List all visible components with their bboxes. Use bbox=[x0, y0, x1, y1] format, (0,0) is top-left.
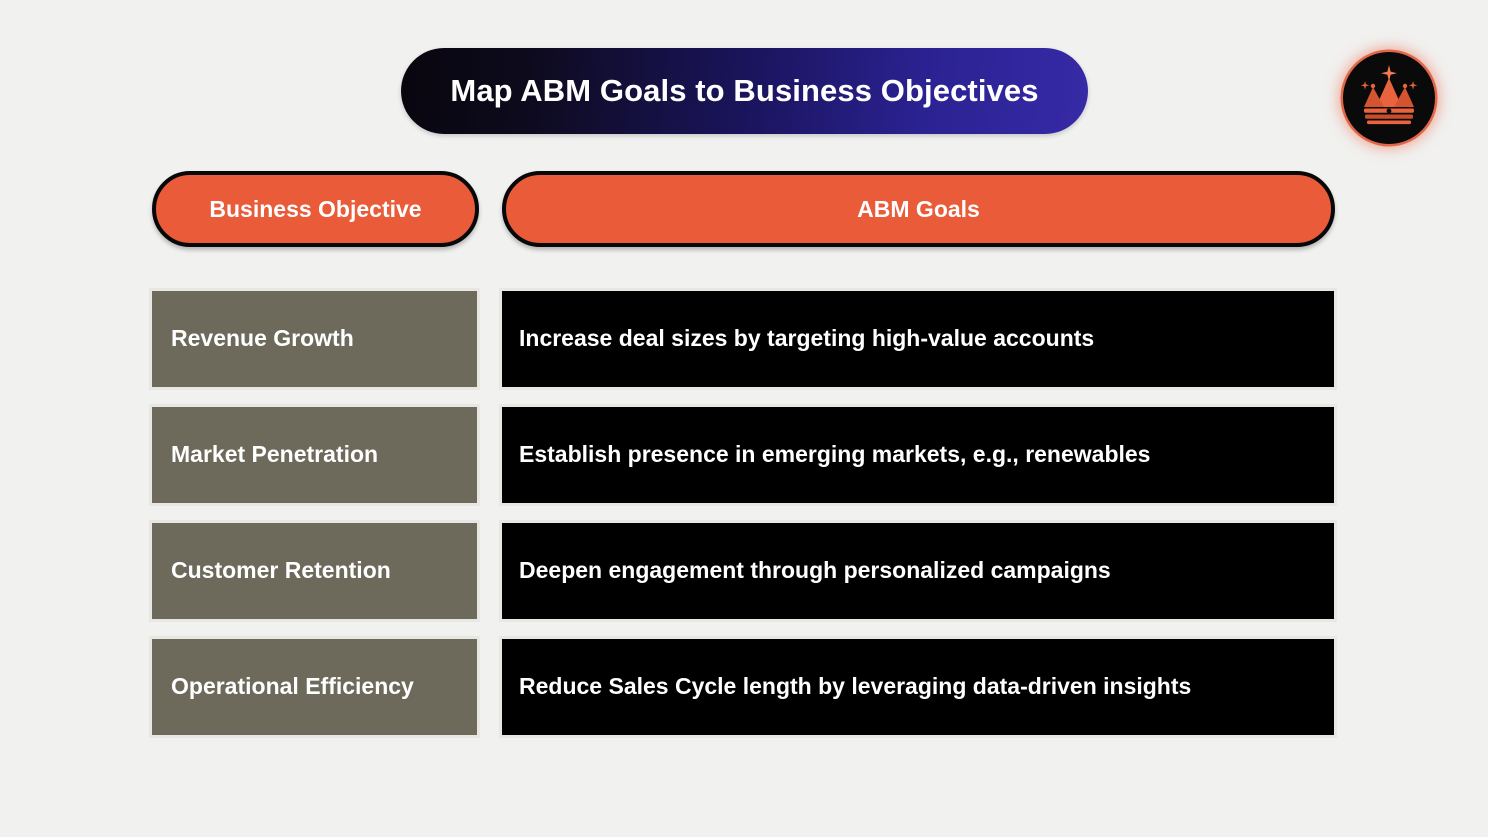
slide-canvas: Map ABM Goals to Business Objectives bbox=[0, 0, 1488, 837]
slide-title-banner: Map ABM Goals to Business Objectives bbox=[401, 48, 1088, 134]
row-spacer bbox=[480, 288, 499, 390]
mapping-matrix: Revenue Growth Increase deal sizes by ta… bbox=[149, 288, 1337, 738]
row-spacer bbox=[480, 520, 499, 622]
goal-cell: Deepen engagement through personalized c… bbox=[499, 520, 1337, 622]
table-row: Operational Efficiency Reduce Sales Cycl… bbox=[149, 636, 1337, 738]
crown-icon bbox=[1352, 61, 1426, 135]
table-row: Customer Retention Deepen engagement thr… bbox=[149, 520, 1337, 622]
objective-label: Customer Retention bbox=[171, 557, 391, 585]
goal-label: Deepen engagement through personalized c… bbox=[519, 557, 1111, 585]
goal-label: Reduce Sales Cycle length by leveraging … bbox=[519, 673, 1191, 701]
column-header-right-label: ABM Goals bbox=[857, 196, 980, 223]
column-header-left-label: Business Objective bbox=[209, 196, 421, 223]
objective-cell: Customer Retention bbox=[149, 520, 480, 622]
brand-logo bbox=[1343, 52, 1435, 144]
objective-label: Revenue Growth bbox=[171, 325, 354, 353]
goal-cell: Reduce Sales Cycle length by leveraging … bbox=[499, 636, 1337, 738]
objective-label: Market Penetration bbox=[171, 441, 378, 469]
column-header-abm-goals: ABM Goals bbox=[502, 171, 1335, 247]
table-row: Revenue Growth Increase deal sizes by ta… bbox=[149, 288, 1337, 390]
goal-cell: Establish presence in emerging markets, … bbox=[499, 404, 1337, 506]
goal-label: Establish presence in emerging markets, … bbox=[519, 441, 1150, 469]
objective-cell: Revenue Growth bbox=[149, 288, 480, 390]
page-title: Map ABM Goals to Business Objectives bbox=[450, 73, 1038, 109]
table-row: Market Penetration Establish presence in… bbox=[149, 404, 1337, 506]
objective-cell: Operational Efficiency bbox=[149, 636, 480, 738]
column-header-business-objective: Business Objective bbox=[152, 171, 479, 247]
row-spacer bbox=[480, 404, 499, 506]
goal-cell: Increase deal sizes by targeting high-va… bbox=[499, 288, 1337, 390]
row-spacer bbox=[480, 636, 499, 738]
objective-label: Operational Efficiency bbox=[171, 673, 414, 701]
objective-cell: Market Penetration bbox=[149, 404, 480, 506]
goal-label: Increase deal sizes by targeting high-va… bbox=[519, 325, 1094, 353]
